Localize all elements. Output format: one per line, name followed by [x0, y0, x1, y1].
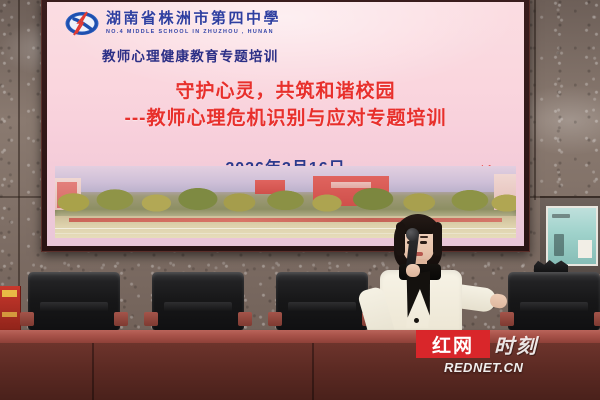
booth-glass [546, 206, 598, 266]
watermark: 红网 时刻 REDNET.CN [416, 330, 596, 376]
chair-backrest [28, 272, 120, 330]
conference-chair [500, 272, 600, 334]
booth-paper-notice [578, 240, 592, 258]
photo-trees [55, 182, 516, 216]
chair-seam [520, 302, 588, 312]
school-name-en: NO.4 MIDDLE SCHOOL IN ZHUZHOU , HUNAN [106, 30, 281, 35]
presenter-mic-hand [406, 264, 420, 277]
presenter-eyebrow [420, 236, 428, 238]
desk-panel-seam [92, 343, 94, 400]
chair-armrest [20, 312, 34, 326]
wall-seam-horizontal [0, 196, 44, 198]
watermark-brand-outline: 时刻 [494, 330, 538, 359]
projection-screen[interactable]: 湖南省株洲市第四中學 NO.4 MIDDLE SCHOOL IN ZHUZHOU… [47, 2, 524, 246]
wall-seam [534, 0, 536, 200]
conference-chair [144, 272, 252, 334]
slide-header: 湖南省株洲市第四中學 NO.4 MIDDLE SCHOOL IN ZHUZHOU… [65, 10, 281, 37]
screenshot-stage: 湖南省株洲市第四中學 NO.4 MIDDLE SCHOOL IN ZHUZHOU… [0, 0, 600, 400]
chair-armrest [144, 312, 158, 326]
slide-title-line1: 守护心灵，共筑和谐校园 [47, 80, 524, 104]
slide-title: 守护心灵，共筑和谐校园 ---教师心理危机识别与应对专题培训 [47, 80, 524, 132]
presenter-hair-side [433, 222, 442, 256]
chair-backrest [152, 272, 244, 330]
chair-armrest [594, 312, 600, 326]
chair-seam [288, 302, 356, 312]
microphone-head [406, 228, 419, 241]
slide-subtitle: 教师心理健康教育专题培训 [102, 45, 278, 65]
desk-panel-seam [312, 343, 314, 400]
chair-seam [40, 302, 108, 312]
chair-backrest [508, 272, 600, 330]
school-name-block: 湖南省株洲市第四中學 NO.4 MIDDLE SCHOOL IN ZHUZHOU… [106, 12, 281, 35]
chair-armrest [238, 312, 252, 326]
watermark-brand-cn: 红网 [432, 331, 474, 358]
watermark-url: REDNET.CN [444, 360, 523, 375]
presenter-hair-side [396, 222, 405, 256]
conference-chair [20, 272, 128, 334]
school-name-cn: 湖南省株洲市第四中學 [106, 12, 281, 27]
school-emblem-icon [65, 10, 99, 37]
chair-armrest [268, 312, 282, 326]
booth-door [554, 234, 564, 256]
watermark-brand-box: 红网 [416, 330, 490, 358]
jacket-button [414, 318, 419, 323]
slide-title-line2: ---教师心理危机识别与应对专题培训 [47, 106, 524, 132]
presenter-eye [420, 241, 427, 244]
booth-shelf [552, 214, 570, 218]
chair-armrest [114, 312, 128, 326]
chair-seam [164, 302, 232, 312]
